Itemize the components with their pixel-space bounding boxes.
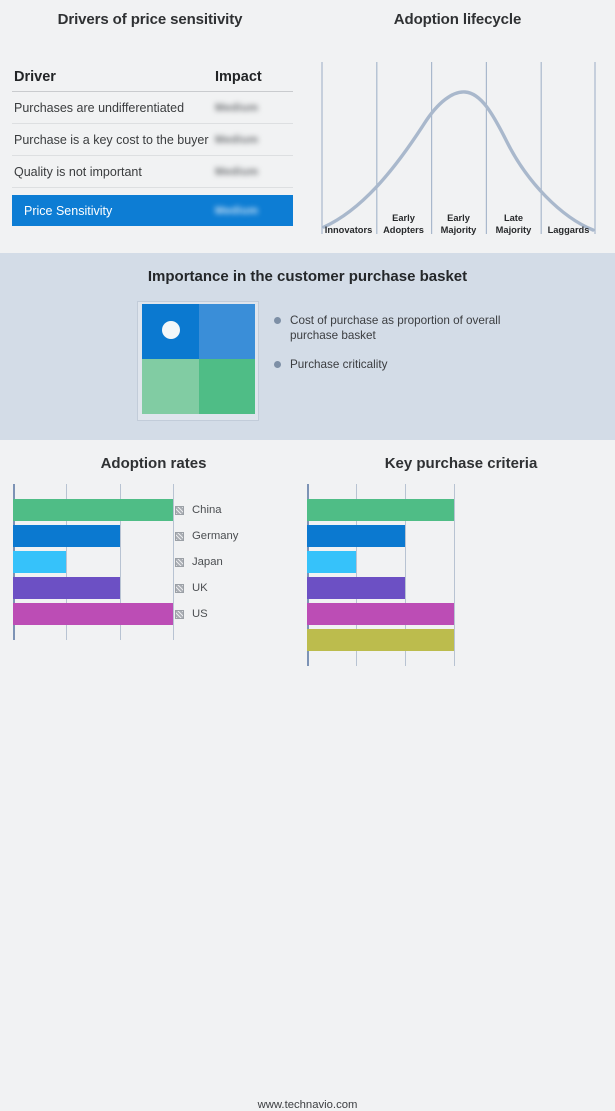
bar-fill <box>307 525 405 547</box>
bullet-icon <box>274 361 281 368</box>
bullet-icon <box>274 317 281 324</box>
lifecycle-label-innovators: Innovators <box>321 202 376 238</box>
bar-row[interactable] <box>13 575 173 601</box>
adoption-rates-title: Adoption rates <box>0 455 307 472</box>
legend-item: Purchase criticality <box>274 357 594 372</box>
table-row-highlighted[interactable]: Price Sensitivity Medium <box>12 195 293 226</box>
column-header-impact: Impact <box>215 69 293 85</box>
legend-item-label: US <box>192 608 208 620</box>
impact-cell: Medium <box>215 205 293 217</box>
bar-row[interactable] <box>307 627 454 653</box>
quadrant-bottom-right[interactable] <box>199 359 256 414</box>
table-header-row: Driver Impact <box>12 62 293 92</box>
bar-row[interactable] <box>307 549 454 575</box>
drivers-table: Driver Impact Purchases are undifferenti… <box>12 62 293 226</box>
drivers-panel: Drivers of price sensitivity Driver Impa… <box>0 0 300 253</box>
legend-item-label: Germany <box>192 530 238 542</box>
bar-row[interactable] <box>307 523 454 549</box>
adoption-plot-area <box>13 484 173 640</box>
adoption-rates-chart <box>13 484 173 640</box>
lifecycle-panel-title: Adoption lifecycle <box>300 11 615 28</box>
lifecycle-label-laggards: Laggards <box>541 202 596 238</box>
key-purchase-criteria-title: Key purchase criteria <box>307 455 615 472</box>
legend-swatch-icon <box>175 610 184 619</box>
quadrant-top-left[interactable] <box>142 304 199 359</box>
lifecycle-label-late-majority: Late Majority <box>486 202 541 238</box>
purchase-basket-legend: Cost of purchase as proportion of overal… <box>274 313 594 386</box>
lifecycle-axis-labels: Innovators Early Adopters Early Majority… <box>321 202 596 238</box>
footer-url: www.technavio.com <box>0 1099 615 1111</box>
bar-fill <box>13 603 173 625</box>
quadrant-matrix-frame <box>137 301 259 421</box>
legend-item[interactable]: China <box>175 497 238 523</box>
driver-cell: Quality is not important <box>12 165 215 179</box>
bar-fill <box>307 499 454 521</box>
bar-row[interactable] <box>307 497 454 523</box>
bar-fill <box>307 577 405 599</box>
quadrant-bottom-left[interactable] <box>142 359 199 414</box>
impact-cell: Medium <box>215 166 293 178</box>
legend-swatch-icon <box>175 558 184 567</box>
quadrant-matrix <box>142 304 255 414</box>
legend-item[interactable]: UK <box>175 575 238 601</box>
driver-cell: Purchases are undifferentiated <box>12 101 215 115</box>
lifecycle-label-early-majority: Early Majority <box>431 202 486 238</box>
legend-item: Cost of purchase as proportion of overal… <box>274 313 594 343</box>
driver-cell: Purchase is a key cost to the buyer <box>12 133 215 147</box>
legend-item[interactable]: Germany <box>175 523 238 549</box>
criteria-plot-area <box>307 484 454 666</box>
table-row[interactable]: Purchases are undifferentiated Medium <box>12 92 293 124</box>
table-row[interactable]: Purchase is a key cost to the buyer Medi… <box>12 124 293 156</box>
lifecycle-label-early-adopters: Early Adopters <box>376 202 431 238</box>
bar-row[interactable] <box>13 497 173 523</box>
legend-item-label: Cost of purchase as proportion of overal… <box>290 313 508 343</box>
quadrant-top-right[interactable] <box>199 304 256 359</box>
legend-swatch-icon <box>175 532 184 541</box>
legend-swatch-icon <box>175 506 184 515</box>
bar-fill <box>307 603 454 625</box>
bar-row[interactable] <box>13 523 173 549</box>
bar-row[interactable] <box>13 549 173 575</box>
bar-fill <box>307 629 454 651</box>
bar-fill <box>307 551 356 573</box>
impact-cell: Medium <box>215 102 293 114</box>
adoption-rates-panel: Adoption rates ChinaGermanyJapanUKUS <box>0 440 307 680</box>
bar-row[interactable] <box>307 575 454 601</box>
purchase-basket-title: Importance in the customer purchase bask… <box>0 268 615 285</box>
top-section: Drivers of price sensitivity Driver Impa… <box>0 0 615 253</box>
matrix-position-marker <box>162 321 180 339</box>
bar-fill <box>13 499 173 521</box>
gridline <box>173 484 174 640</box>
legend-item[interactable]: Japan <box>175 549 238 575</box>
driver-cell: Price Sensitivity <box>22 204 215 218</box>
legend-item-label: Japan <box>192 556 223 568</box>
bar-fill <box>13 551 66 573</box>
bar-fill <box>13 577 120 599</box>
legend-item[interactable]: US <box>175 601 238 627</box>
gridline <box>454 484 455 666</box>
bar-fill <box>13 525 120 547</box>
adoption-lifecycle-panel: Adoption lifecycle Innovators Early <box>300 0 615 253</box>
legend-item-label: UK <box>192 582 208 594</box>
key-purchase-criteria-chart <box>307 484 454 666</box>
legend-item-label: Purchase criticality <box>290 357 387 372</box>
legend-swatch-icon <box>175 584 184 593</box>
adoption-rates-legend: ChinaGermanyJapanUKUS <box>175 484 238 627</box>
bar-row[interactable] <box>13 601 173 627</box>
key-purchase-criteria-panel: Key purchase criteria InnovationPriceQua… <box>307 440 615 680</box>
legend-item-label: China <box>192 504 222 516</box>
bar-row[interactable] <box>307 601 454 627</box>
bottom-section: Adoption rates ChinaGermanyJapanUKUS Key… <box>0 440 615 680</box>
drivers-panel-title: Drivers of price sensitivity <box>0 11 300 28</box>
purchase-basket-section: Importance in the customer purchase bask… <box>0 253 615 440</box>
column-header-driver: Driver <box>12 69 215 85</box>
impact-cell: Medium <box>215 134 293 146</box>
table-row[interactable]: Quality is not important Medium <box>12 156 293 188</box>
